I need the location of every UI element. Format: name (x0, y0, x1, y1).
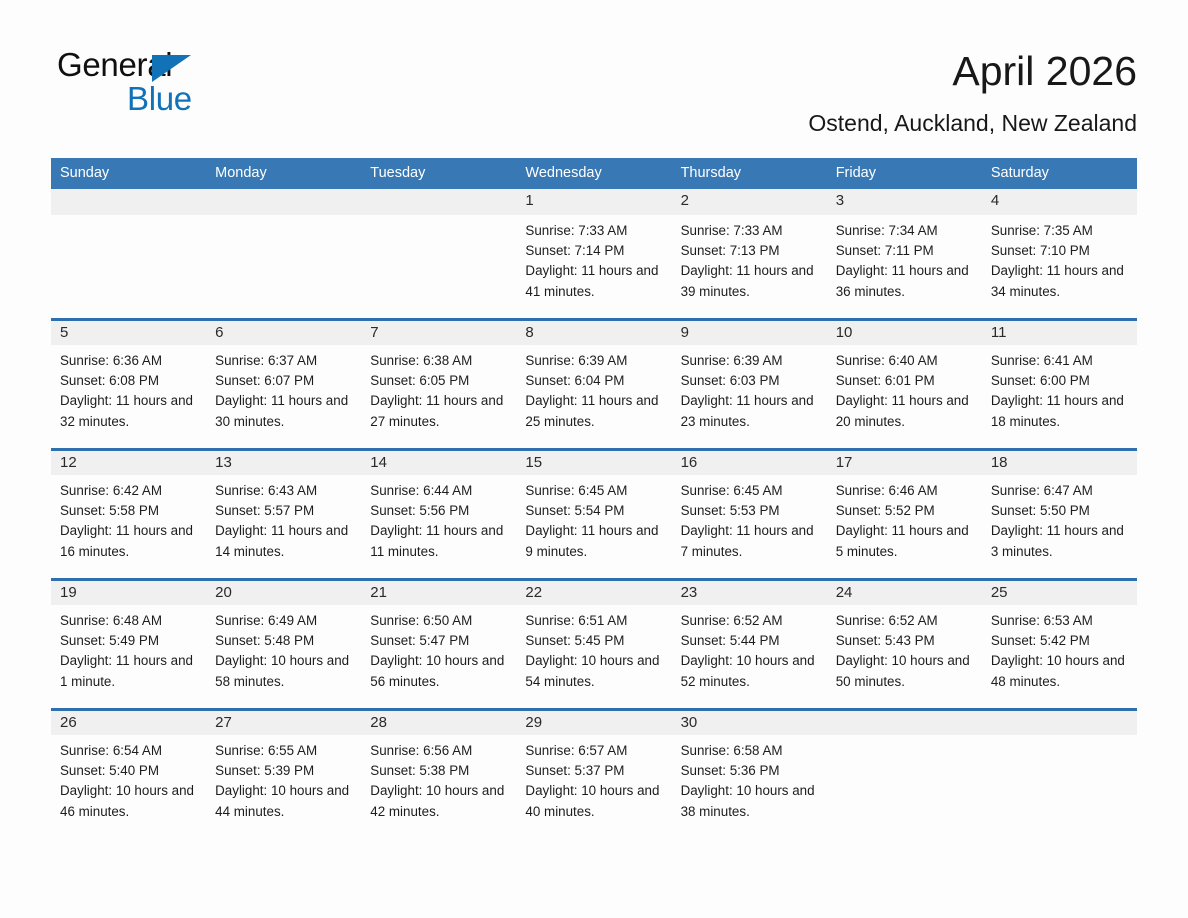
daylight-text: Daylight: 11 hours and 18 minutes. (991, 391, 1125, 431)
week-number-row: 567891011 (51, 319, 1137, 345)
day-cell[interactable]: Sunrise: 7:33 AMSunset: 7:13 PMDaylight:… (672, 215, 827, 319)
day-number-empty (982, 709, 1137, 735)
day-number[interactable]: 15 (516, 449, 671, 475)
generalblue-logo[interactable]: General Blue (51, 46, 251, 126)
day-number[interactable]: 26 (51, 709, 206, 735)
day-cell[interactable]: Sunrise: 6:53 AMSunset: 5:42 PMDaylight:… (982, 605, 1137, 709)
sunrise-text: Sunrise: 6:42 AM (60, 481, 194, 501)
weekday-header-tuesday: Tuesday (361, 158, 516, 189)
sunrise-text: Sunrise: 6:50 AM (370, 611, 504, 631)
calendar-header-row: Sunday Monday Tuesday Wednesday Thursday… (51, 158, 1137, 189)
day-cell[interactable]: Sunrise: 6:37 AMSunset: 6:07 PMDaylight:… (206, 345, 361, 449)
day-number[interactable]: 25 (982, 579, 1137, 605)
sunset-text: Sunset: 6:08 PM (60, 371, 194, 391)
day-number[interactable]: 27 (206, 709, 361, 735)
day-cell[interactable]: Sunrise: 6:52 AMSunset: 5:44 PMDaylight:… (672, 605, 827, 709)
daylight-text: Daylight: 11 hours and 25 minutes. (525, 391, 659, 431)
daylight-text: Daylight: 10 hours and 54 minutes. (525, 651, 659, 691)
sunset-text: Sunset: 5:58 PM (60, 501, 194, 521)
day-cell[interactable]: Sunrise: 7:33 AMSunset: 7:14 PMDaylight:… (516, 215, 671, 319)
day-cell[interactable]: Sunrise: 6:44 AMSunset: 5:56 PMDaylight:… (361, 475, 516, 579)
sunrise-text: Sunrise: 6:49 AM (215, 611, 349, 631)
sunset-text: Sunset: 5:43 PM (836, 631, 970, 651)
day-cell[interactable]: Sunrise: 6:36 AMSunset: 6:08 PMDaylight:… (51, 345, 206, 449)
sunrise-text: Sunrise: 6:55 AM (215, 741, 349, 761)
daylight-text: Daylight: 10 hours and 40 minutes. (525, 781, 659, 821)
weekday-header-monday: Monday (206, 158, 361, 189)
day-cell[interactable]: Sunrise: 6:48 AMSunset: 5:49 PMDaylight:… (51, 605, 206, 709)
daylight-text: Daylight: 11 hours and 5 minutes. (836, 521, 970, 561)
week-number-row: 19202122232425 (51, 579, 1137, 605)
day-number[interactable]: 2 (672, 189, 827, 215)
sunrise-text: Sunrise: 6:52 AM (836, 611, 970, 631)
page-header: General Blue April 2026 Ostend, Auckland… (51, 46, 1137, 146)
daylight-text: Daylight: 10 hours and 44 minutes. (215, 781, 349, 821)
week-number-row: 1234 (51, 189, 1137, 215)
daylight-text: Daylight: 11 hours and 7 minutes. (681, 521, 815, 561)
day-number[interactable]: 16 (672, 449, 827, 475)
daylight-text: Daylight: 11 hours and 30 minutes. (215, 391, 349, 431)
daylight-text: Daylight: 11 hours and 27 minutes. (370, 391, 504, 431)
daylight-text: Daylight: 11 hours and 11 minutes. (370, 521, 504, 561)
day-cell[interactable]: Sunrise: 6:46 AMSunset: 5:52 PMDaylight:… (827, 475, 982, 579)
day-number[interactable]: 17 (827, 449, 982, 475)
logo-text-blue: Blue (127, 80, 192, 118)
day-number-empty (51, 189, 206, 215)
day-number[interactable]: 9 (672, 319, 827, 345)
day-cell[interactable]: Sunrise: 6:49 AMSunset: 5:48 PMDaylight:… (206, 605, 361, 709)
sunrise-text: Sunrise: 6:54 AM (60, 741, 194, 761)
day-cell[interactable]: Sunrise: 6:38 AMSunset: 6:05 PMDaylight:… (361, 345, 516, 449)
day-cell-empty (361, 215, 516, 319)
day-cell[interactable]: Sunrise: 6:51 AMSunset: 5:45 PMDaylight:… (516, 605, 671, 709)
day-cell[interactable]: Sunrise: 6:43 AMSunset: 5:57 PMDaylight:… (206, 475, 361, 579)
sunrise-text: Sunrise: 7:33 AM (525, 221, 659, 241)
daylight-text: Daylight: 10 hours and 48 minutes. (991, 651, 1125, 691)
calendar-page: General Blue April 2026 Ostend, Auckland… (0, 0, 1188, 918)
sunrise-text: Sunrise: 6:40 AM (836, 351, 970, 371)
daylight-text: Daylight: 11 hours and 36 minutes. (836, 261, 970, 301)
daylight-text: Daylight: 10 hours and 56 minutes. (370, 651, 504, 691)
day-number[interactable]: 13 (206, 449, 361, 475)
day-cell[interactable]: Sunrise: 6:56 AMSunset: 5:38 PMDaylight:… (361, 735, 516, 839)
daylight-text: Daylight: 11 hours and 34 minutes. (991, 261, 1125, 301)
day-number[interactable]: 1 (516, 189, 671, 215)
day-number[interactable]: 11 (982, 319, 1137, 345)
sunrise-text: Sunrise: 6:44 AM (370, 481, 504, 501)
day-number[interactable]: 29 (516, 709, 671, 735)
day-cell[interactable]: Sunrise: 6:47 AMSunset: 5:50 PMDaylight:… (982, 475, 1137, 579)
daylight-text: Daylight: 11 hours and 32 minutes. (60, 391, 194, 431)
sunset-text: Sunset: 5:39 PM (215, 761, 349, 781)
day-number[interactable]: 6 (206, 319, 361, 345)
day-number[interactable]: 28 (361, 709, 516, 735)
sunrise-text: Sunrise: 6:39 AM (525, 351, 659, 371)
daylight-text: Daylight: 10 hours and 58 minutes. (215, 651, 349, 691)
sunset-text: Sunset: 6:04 PM (525, 371, 659, 391)
sunrise-text: Sunrise: 6:36 AM (60, 351, 194, 371)
day-number[interactable]: 18 (982, 449, 1137, 475)
day-number[interactable]: 3 (827, 189, 982, 215)
sunset-text: Sunset: 7:10 PM (991, 241, 1125, 261)
sunset-text: Sunset: 7:14 PM (525, 241, 659, 261)
title-block: April 2026 Ostend, Auckland, New Zealand (808, 46, 1137, 137)
weekday-header-wednesday: Wednesday (516, 158, 671, 189)
sunset-text: Sunset: 7:11 PM (836, 241, 970, 261)
day-cell[interactable]: Sunrise: 6:39 AMSunset: 6:03 PMDaylight:… (672, 345, 827, 449)
day-number-empty (206, 189, 361, 215)
sunrise-text: Sunrise: 6:41 AM (991, 351, 1125, 371)
day-number[interactable]: 30 (672, 709, 827, 735)
sunrise-text: Sunrise: 6:45 AM (525, 481, 659, 501)
day-cell[interactable]: Sunrise: 6:58 AMSunset: 5:36 PMDaylight:… (672, 735, 827, 839)
sunset-text: Sunset: 5:44 PM (681, 631, 815, 651)
daylight-text: Daylight: 11 hours and 3 minutes. (991, 521, 1125, 561)
day-number[interactable]: 20 (206, 579, 361, 605)
day-number[interactable]: 7 (361, 319, 516, 345)
day-cell[interactable]: Sunrise: 6:40 AMSunset: 6:01 PMDaylight:… (827, 345, 982, 449)
day-number[interactable]: 19 (51, 579, 206, 605)
daylight-text: Daylight: 11 hours and 41 minutes. (525, 261, 659, 301)
sunset-text: Sunset: 5:42 PM (991, 631, 1125, 651)
day-cell[interactable]: Sunrise: 6:42 AMSunset: 5:58 PMDaylight:… (51, 475, 206, 579)
calendar-body: 1234Sunrise: 7:33 AMSunset: 7:14 PMDayli… (51, 189, 1137, 839)
sunset-text: Sunset: 6:07 PM (215, 371, 349, 391)
sunrise-text: Sunrise: 7:33 AM (681, 221, 815, 241)
logo-triangle-icon (152, 55, 191, 82)
day-cell-empty (982, 735, 1137, 839)
sunset-text: Sunset: 5:38 PM (370, 761, 504, 781)
sunset-text: Sunset: 5:45 PM (525, 631, 659, 651)
sunset-text: Sunset: 5:57 PM (215, 501, 349, 521)
day-cell[interactable]: Sunrise: 7:34 AMSunset: 7:11 PMDaylight:… (827, 215, 982, 319)
sunset-text: Sunset: 5:36 PM (681, 761, 815, 781)
sunrise-text: Sunrise: 6:58 AM (681, 741, 815, 761)
sunrise-text: Sunrise: 6:39 AM (681, 351, 815, 371)
sunset-text: Sunset: 5:37 PM (525, 761, 659, 781)
daylight-text: Daylight: 11 hours and 23 minutes. (681, 391, 815, 431)
day-number[interactable]: 23 (672, 579, 827, 605)
day-cell[interactable]: Sunrise: 6:41 AMSunset: 6:00 PMDaylight:… (982, 345, 1137, 449)
daylight-text: Daylight: 11 hours and 9 minutes. (525, 521, 659, 561)
sunset-text: Sunset: 5:47 PM (370, 631, 504, 651)
daylight-text: Daylight: 11 hours and 39 minutes. (681, 261, 815, 301)
week-info-row: Sunrise: 6:54 AMSunset: 5:40 PMDaylight:… (51, 735, 1137, 839)
daylight-text: Daylight: 10 hours and 46 minutes. (60, 781, 194, 821)
day-number[interactable]: 8 (516, 319, 671, 345)
day-number[interactable]: 21 (361, 579, 516, 605)
sunrise-text: Sunrise: 6:57 AM (525, 741, 659, 761)
sunrise-text: Sunrise: 6:46 AM (836, 481, 970, 501)
week-info-row: Sunrise: 7:33 AMSunset: 7:14 PMDaylight:… (51, 215, 1137, 319)
day-cell[interactable]: Sunrise: 6:55 AMSunset: 5:39 PMDaylight:… (206, 735, 361, 839)
daylight-text: Daylight: 11 hours and 20 minutes. (836, 391, 970, 431)
sunrise-text: Sunrise: 6:38 AM (370, 351, 504, 371)
sunrise-text: Sunrise: 7:34 AM (836, 221, 970, 241)
day-number-empty (361, 189, 516, 215)
day-cell-empty (206, 215, 361, 319)
sunrise-text: Sunrise: 6:43 AM (215, 481, 349, 501)
sunrise-text: Sunrise: 7:35 AM (991, 221, 1125, 241)
weekday-header-friday: Friday (827, 158, 982, 189)
sunset-text: Sunset: 6:01 PM (836, 371, 970, 391)
sunset-text: Sunset: 5:49 PM (60, 631, 194, 651)
day-number[interactable]: 4 (982, 189, 1137, 215)
daylight-text: Daylight: 10 hours and 42 minutes. (370, 781, 504, 821)
day-cell[interactable]: Sunrise: 6:45 AMSunset: 5:53 PMDaylight:… (672, 475, 827, 579)
calendar-table: Sunday Monday Tuesday Wednesday Thursday… (51, 158, 1137, 839)
daylight-text: Daylight: 10 hours and 38 minutes. (681, 781, 815, 821)
day-cell[interactable]: Sunrise: 6:50 AMSunset: 5:47 PMDaylight:… (361, 605, 516, 709)
sunrise-text: Sunrise: 6:37 AM (215, 351, 349, 371)
day-number[interactable]: 14 (361, 449, 516, 475)
weekday-header-thursday: Thursday (672, 158, 827, 189)
sunset-text: Sunset: 5:53 PM (681, 501, 815, 521)
daylight-text: Daylight: 10 hours and 50 minutes. (836, 651, 970, 691)
daylight-text: Daylight: 10 hours and 52 minutes. (681, 651, 815, 691)
week-info-row: Sunrise: 6:42 AMSunset: 5:58 PMDaylight:… (51, 475, 1137, 579)
week-info-row: Sunrise: 6:36 AMSunset: 6:08 PMDaylight:… (51, 345, 1137, 449)
day-number-empty (827, 709, 982, 735)
sunrise-text: Sunrise: 6:48 AM (60, 611, 194, 631)
daylight-text: Daylight: 11 hours and 14 minutes. (215, 521, 349, 561)
day-cell[interactable]: Sunrise: 6:54 AMSunset: 5:40 PMDaylight:… (51, 735, 206, 839)
week-info-row: Sunrise: 6:48 AMSunset: 5:49 PMDaylight:… (51, 605, 1137, 709)
sunset-text: Sunset: 5:56 PM (370, 501, 504, 521)
day-cell[interactable]: Sunrise: 7:35 AMSunset: 7:10 PMDaylight:… (982, 215, 1137, 319)
day-cell[interactable]: Sunrise: 6:57 AMSunset: 5:37 PMDaylight:… (516, 735, 671, 839)
day-number[interactable]: 22 (516, 579, 671, 605)
sunrise-text: Sunrise: 6:52 AM (681, 611, 815, 631)
sunset-text: Sunset: 5:40 PM (60, 761, 194, 781)
day-cell-empty (827, 735, 982, 839)
sunset-text: Sunset: 5:50 PM (991, 501, 1125, 521)
day-number[interactable]: 12 (51, 449, 206, 475)
sunset-text: Sunset: 6:03 PM (681, 371, 815, 391)
daylight-text: Daylight: 11 hours and 1 minute. (60, 651, 194, 691)
sunset-text: Sunset: 6:05 PM (370, 371, 504, 391)
day-cell-empty (51, 215, 206, 319)
location-subtitle: Ostend, Auckland, New Zealand (808, 110, 1137, 137)
week-number-row: 2627282930 (51, 709, 1137, 735)
day-number[interactable]: 10 (827, 319, 982, 345)
day-cell[interactable]: Sunrise: 6:45 AMSunset: 5:54 PMDaylight:… (516, 475, 671, 579)
sunrise-text: Sunrise: 6:45 AM (681, 481, 815, 501)
sunset-text: Sunset: 5:54 PM (525, 501, 659, 521)
sunrise-text: Sunrise: 6:47 AM (991, 481, 1125, 501)
sunset-text: Sunset: 5:48 PM (215, 631, 349, 651)
page-title: April 2026 (808, 46, 1137, 96)
sunrise-text: Sunrise: 6:51 AM (525, 611, 659, 631)
sunrise-text: Sunrise: 6:56 AM (370, 741, 504, 761)
daylight-text: Daylight: 11 hours and 16 minutes. (60, 521, 194, 561)
week-number-row: 12131415161718 (51, 449, 1137, 475)
sunset-text: Sunset: 7:13 PM (681, 241, 815, 261)
day-number[interactable]: 5 (51, 319, 206, 345)
day-number[interactable]: 24 (827, 579, 982, 605)
sunset-text: Sunset: 5:52 PM (836, 501, 970, 521)
sunset-text: Sunset: 6:00 PM (991, 371, 1125, 391)
day-cell[interactable]: Sunrise: 6:39 AMSunset: 6:04 PMDaylight:… (516, 345, 671, 449)
day-cell[interactable]: Sunrise: 6:52 AMSunset: 5:43 PMDaylight:… (827, 605, 982, 709)
weekday-header-sunday: Sunday (51, 158, 206, 189)
sunrise-text: Sunrise: 6:53 AM (991, 611, 1125, 631)
weekday-header-saturday: Saturday (982, 158, 1137, 189)
